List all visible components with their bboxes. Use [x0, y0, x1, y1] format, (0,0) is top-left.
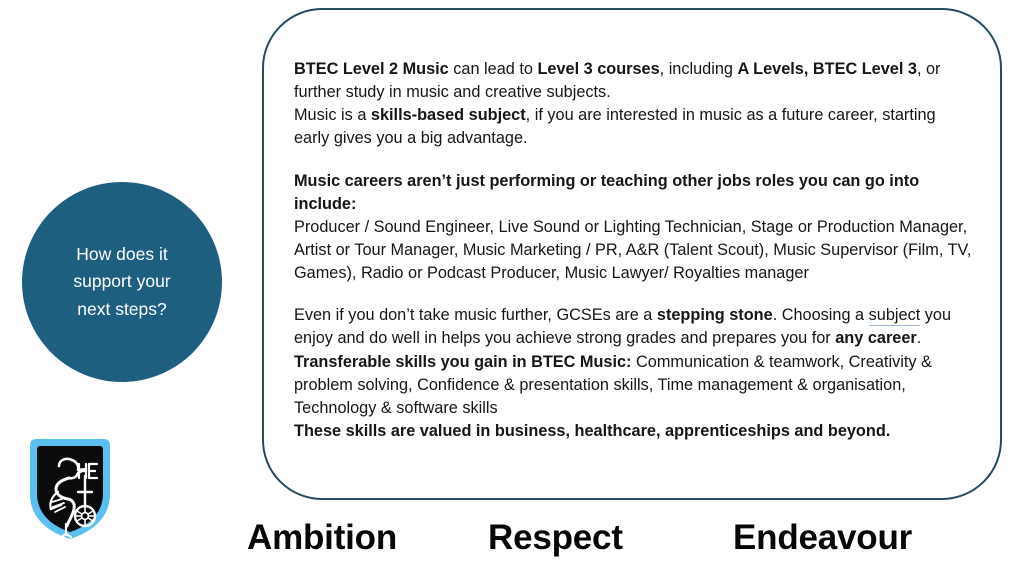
motto-word-ambition: Ambition: [247, 518, 397, 558]
paragraph-2-body: Producer / Sound Engineer, Live Sound or…: [294, 216, 972, 285]
paragraph-spacer-1: [294, 151, 972, 170]
p1b-plain-a: Music is a: [294, 106, 371, 124]
motto-word-respect: Respect: [488, 518, 623, 558]
paragraph-2-heading: Music careers aren’t just performing or …: [294, 170, 972, 216]
paragraph-1-line-2: Music is a skills-based subject, if you …: [294, 104, 972, 150]
content-text-body: BTEC Level 2 Music can lead to Level 3 c…: [294, 58, 972, 443]
p3-bold-any-career: any career: [835, 329, 916, 347]
p1b-bold-skills-based: skills-based subject: [371, 106, 526, 124]
paragraph-1-line-1: BTEC Level 2 Music can lead to Level 3 c…: [294, 58, 972, 104]
p3-bold-stepping-stone: stepping stone: [657, 306, 773, 324]
p1-plain-b: , including: [660, 60, 738, 78]
p1-bold-level3-courses: Level 3 courses: [537, 60, 659, 78]
p1-bold-a-levels: A Levels, BTEC Level 3: [737, 60, 916, 78]
question-circle: How does it support your next steps?: [22, 182, 222, 382]
p3-plain-d: .: [917, 329, 922, 347]
question-circle-text: How does it support your next steps?: [57, 241, 186, 322]
p3-underlined-subject: subject: [869, 306, 921, 326]
paragraph-spacer-2: [294, 285, 972, 304]
motto-word-endeavour: Endeavour: [733, 518, 912, 558]
p3-plain-a: Even if you don’t take music further, GC…: [294, 306, 657, 324]
motto-row: Ambition Respect Endeavour: [244, 518, 944, 564]
p3-closing-bold: These skills are valued in business, hea…: [294, 422, 890, 440]
p2-heading-text: Music careers aren’t just performing or …: [294, 172, 919, 213]
content-panel: BTEC Level 2 Music can lead to Level 3 c…: [262, 8, 1002, 500]
p3-bold-transferable-skills: Transferable skills you gain in BTEC Mus…: [294, 353, 631, 371]
p3-plain-b: . Choosing a: [773, 306, 869, 324]
p1-bold-btec-level2: BTEC Level 2 Music: [294, 60, 449, 78]
paragraph-3-closing: These skills are valued in business, hea…: [294, 420, 972, 443]
p1-plain-a: can lead to: [449, 60, 538, 78]
paragraph-3: Even if you don’t take music further, GC…: [294, 304, 972, 420]
school-shield-crest-icon: [28, 436, 112, 542]
